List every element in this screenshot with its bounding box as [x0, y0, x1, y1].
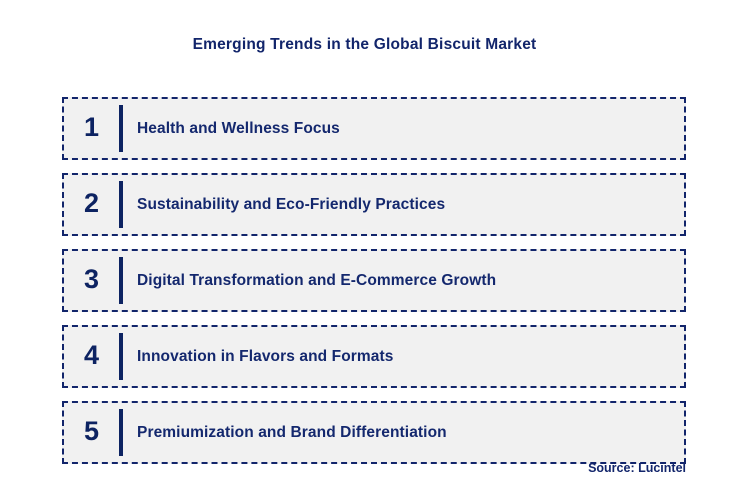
trend-row[interactable]: 1 Health and Wellness Focus	[62, 97, 686, 160]
infographic-page: Emerging Trends in the Global Biscuit Ma…	[0, 0, 729, 492]
trend-label: Premiumization and Brand Differentiation	[123, 424, 684, 442]
trend-label: Health and Wellness Focus	[123, 120, 684, 138]
trend-number: 4	[64, 342, 119, 371]
trend-number: 1	[64, 114, 119, 143]
trend-label: Innovation in Flavors and Formats	[123, 348, 684, 366]
trend-label: Sustainability and Eco-Friendly Practice…	[123, 196, 684, 214]
trend-number: 2	[64, 190, 119, 219]
trend-row[interactable]: 5 Premiumization and Brand Differentiati…	[62, 401, 686, 464]
trend-number: 5	[64, 418, 119, 447]
trend-list: 1 Health and Wellness Focus 2 Sustainabi…	[62, 97, 686, 464]
trend-row[interactable]: 4 Innovation in Flavors and Formats	[62, 325, 686, 388]
trend-row[interactable]: 2 Sustainability and Eco-Friendly Practi…	[62, 173, 686, 236]
trend-label: Digital Transformation and E-Commerce Gr…	[123, 272, 684, 290]
trend-number: 3	[64, 266, 119, 295]
page-title: Emerging Trends in the Global Biscuit Ma…	[0, 36, 729, 54]
trend-row[interactable]: 3 Digital Transformation and E-Commerce …	[62, 249, 686, 312]
source-attribution: Source: Lucintel	[0, 461, 686, 475]
